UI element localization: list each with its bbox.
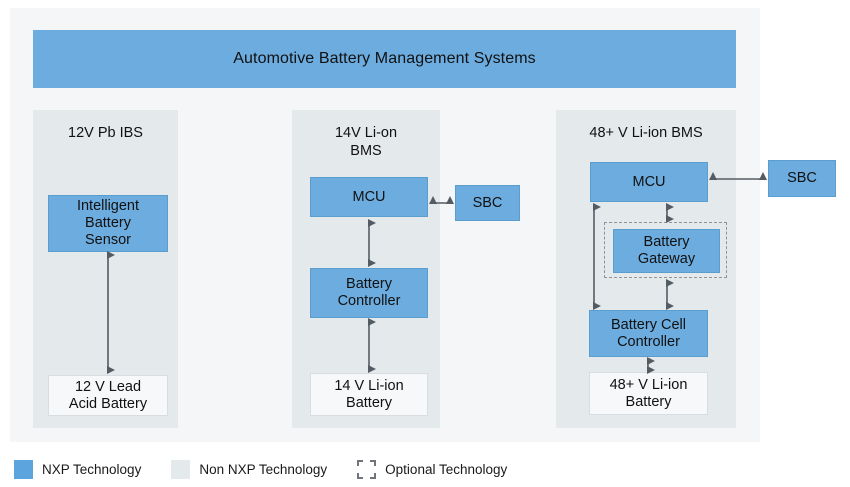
legend-label-nxp: NXP Technology [42,462,141,477]
column-title-14v-line1: 14V Li-on [292,124,440,142]
box-label: SBC [784,170,820,187]
column-title-14v: 14V Li-on BMS [292,124,440,160]
legend-swatch-nxp-icon [14,460,33,479]
box-label-line1: 14 V Li-ion [331,378,406,395]
column-title-14v-line2: BMS [292,142,440,160]
box-battery-controller-14v[interactable]: Battery Controller [310,268,428,318]
column-12v-pb-ibs: 12V Pb IBS Intelligent Battery Sensor 12… [33,110,178,428]
box-label-line2: Battery [82,215,134,232]
box-label-line1: Battery [343,276,395,293]
legend-item-optional-technology: Optional Technology [357,460,507,479]
box-label-line1: Intelligent [74,198,142,215]
column-48v-li-ion-bms: 48+ V Li-ion BMS MCU Battery Gateway Bat… [556,110,736,428]
box-label-line1: Battery Cell [608,317,689,334]
box-label: MCU [629,174,668,191]
box-mcu-48v[interactable]: MCU [590,162,708,202]
box-label-line2: Controller [335,293,404,310]
box-label-line1: 12 V Lead [72,379,144,396]
bms-architecture-diagram: Automotive Battery Management Systems 12… [0,0,850,487]
box-label-line2: Acid Battery [66,396,150,413]
box-12v-lead-acid-battery[interactable]: 12 V Lead Acid Battery [48,375,168,416]
legend-swatch-non-nxp-icon [171,460,190,479]
legend-swatch-optional-icon [357,460,376,479]
box-48v-li-ion-battery[interactable]: 48+ V Li-ion Battery [589,372,708,415]
box-intelligent-battery-sensor[interactable]: Intelligent Battery Sensor [48,195,168,252]
box-label-line2: Controller [614,334,683,351]
box-label-line3: Sensor [82,232,134,249]
box-label: MCU [349,189,388,206]
legend-item-non-nxp-technology: Non NXP Technology [171,460,327,479]
legend: NXP Technology Non NXP Technology Option… [14,458,507,480]
column-title-48v: 48+ V Li-ion BMS [556,124,736,142]
box-battery-cell-controller[interactable]: Battery Cell Controller [589,310,708,357]
box-label-line1: 48+ V Li-ion [607,377,691,394]
box-mcu-14v[interactable]: MCU [310,177,428,217]
box-label-line2: Battery [623,394,675,411]
box-label-line2: Battery [343,395,395,412]
box-14v-li-ion-battery[interactable]: 14 V Li-ion Battery [310,373,428,416]
legend-item-nxp-technology: NXP Technology [14,460,141,479]
page-title: Automotive Battery Management Systems [233,50,536,68]
diagram-header-bar: Automotive Battery Management Systems [33,30,736,88]
legend-label-optional: Optional Technology [385,462,507,477]
box-label-line1: Battery [641,234,693,251]
box-label-line2: Gateway [635,251,698,268]
column-title-12v: 12V Pb IBS [33,124,178,142]
optional-wrapper-battery-gateway: Battery Gateway [604,222,727,278]
box-battery-gateway[interactable]: Battery Gateway [613,229,720,273]
box-sbc-14v[interactable]: SBC [455,185,520,221]
box-sbc-48v[interactable]: SBC [768,160,836,197]
legend-label-non-nxp: Non NXP Technology [199,462,327,477]
column-14v-li-on-bms: 14V Li-on BMS MCU Battery Controller 14 … [292,110,440,428]
box-label: SBC [470,195,506,212]
